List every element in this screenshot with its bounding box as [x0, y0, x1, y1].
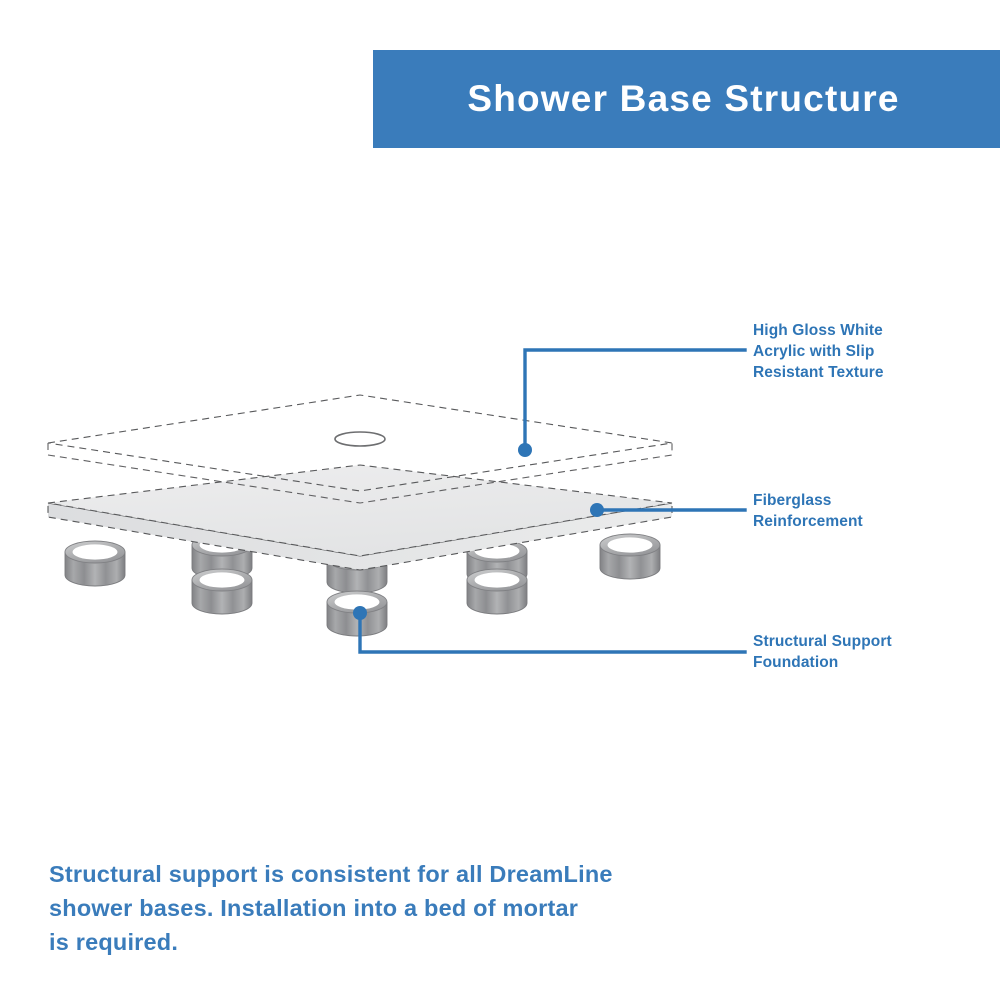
footer-caption: Structural support is consistent for all…	[49, 857, 689, 959]
support-ring	[600, 534, 660, 579]
support-ring	[192, 569, 252, 614]
drain-hole	[335, 432, 385, 446]
leader-line-acrylic	[518, 350, 745, 457]
support-ring	[65, 541, 125, 586]
annotation-label-fiberglass: Fiberglass Reinforcement	[753, 490, 988, 532]
leader-line-foundation	[353, 606, 745, 652]
support-ring	[467, 569, 527, 614]
fiberglass-reinforcement-layer	[48, 465, 672, 570]
diagram-page: Shower Base Structure	[0, 0, 1000, 1000]
annotation-label-acrylic: High Gloss White Acrylic with Slip Resis…	[753, 320, 988, 383]
annotation-label-foundation: Structural Support Foundation	[753, 631, 988, 673]
